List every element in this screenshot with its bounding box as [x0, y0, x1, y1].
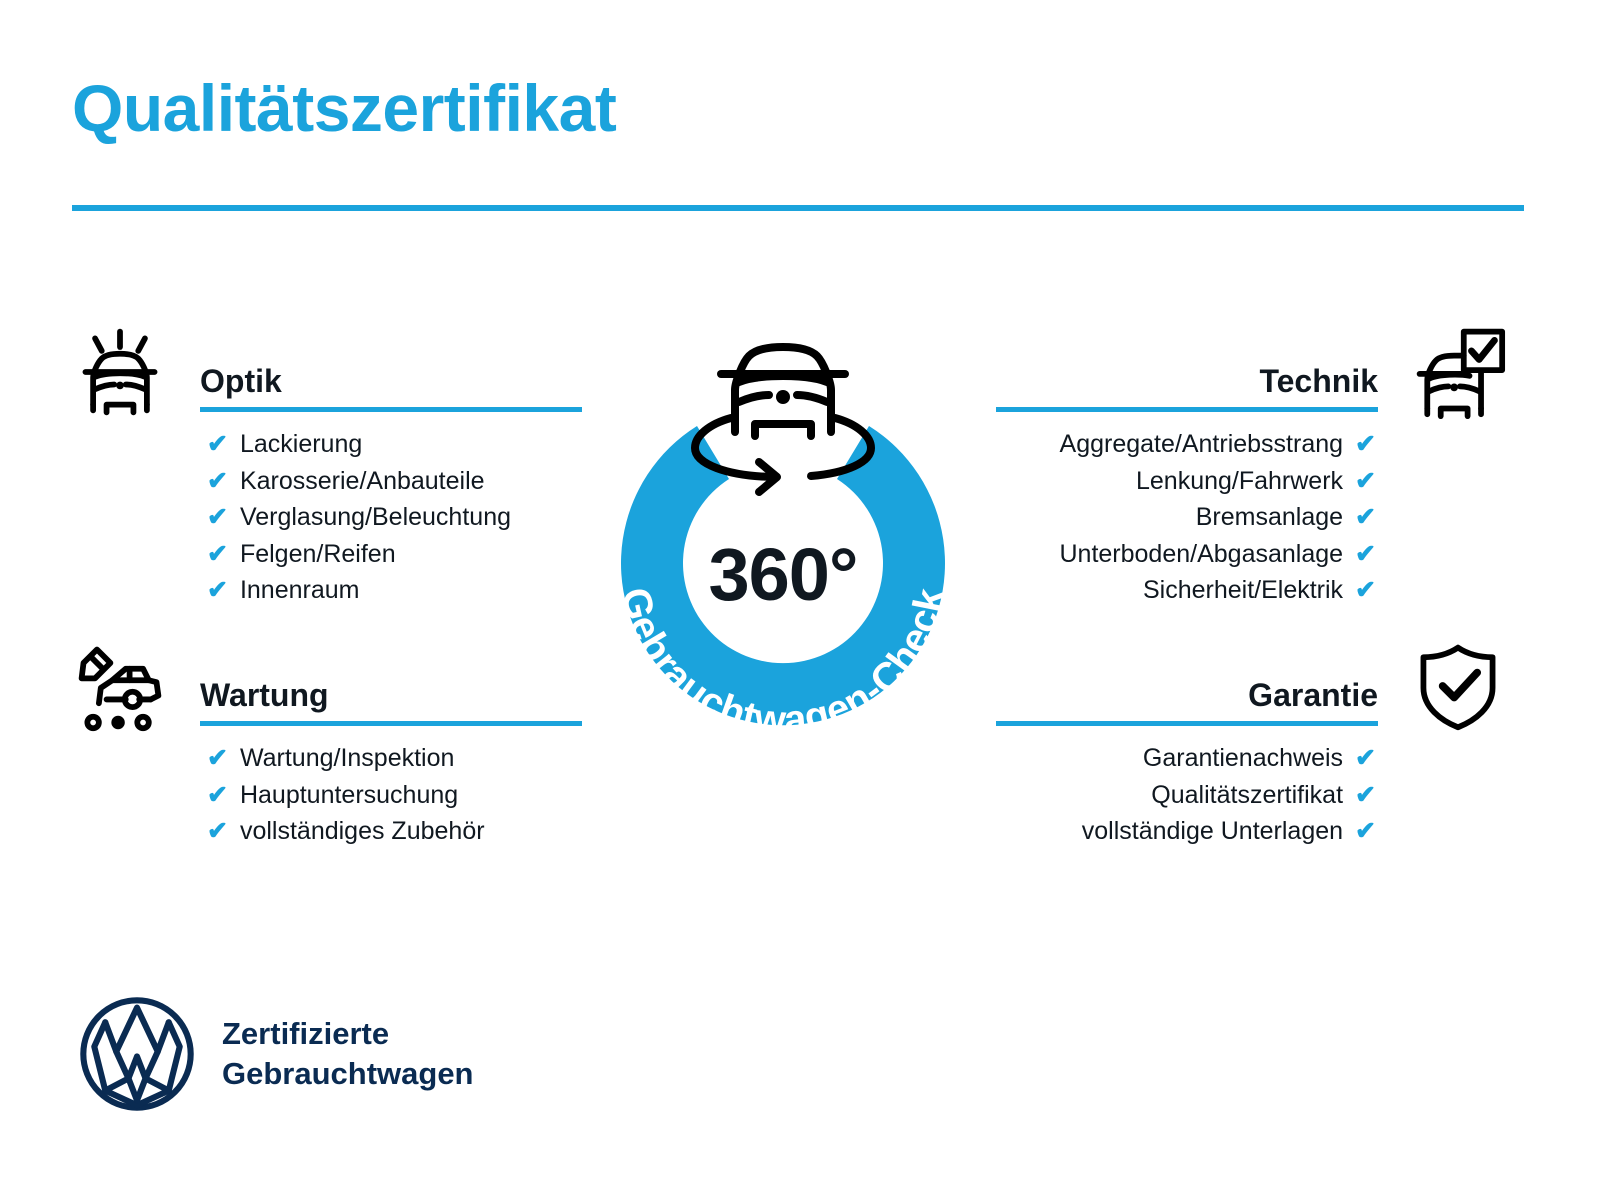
- list-item: ✔Lackierung: [72, 426, 592, 463]
- check-icon: ✔: [1355, 740, 1376, 777]
- check-icon: ✔: [1355, 572, 1376, 609]
- list-item-label: vollständige Unterlagen: [1082, 813, 1343, 850]
- check-icon: ✔: [207, 499, 228, 536]
- section-garantie-title: Garantie: [1248, 677, 1378, 714]
- check-icon: ✔: [1355, 499, 1376, 536]
- pencil-car-service-icon: [72, 638, 168, 734]
- brand-lockup: Zertifizierte Gebrauchtwagen: [76, 993, 474, 1115]
- list-item: Unterboden/Abgasanlage✔: [1008, 536, 1528, 573]
- section-technik-title: Technik: [1259, 363, 1378, 400]
- list-item: Bremsanlage✔: [1008, 499, 1528, 536]
- section-technik-list: Aggregate/Antriebsstrang✔ Lenkung/Fahrwe…: [1008, 426, 1528, 609]
- check-icon: ✔: [207, 813, 228, 850]
- header-divider: [72, 205, 1524, 211]
- page-title: Qualitätszertifikat: [72, 72, 616, 145]
- list-item-label: Qualitätszertifikat: [1151, 777, 1343, 814]
- list-item: ✔Hauptuntersuchung: [72, 777, 592, 814]
- brand-text: Zertifizierte Gebrauchtwagen: [222, 1014, 474, 1094]
- list-item-label: vollständiges Zubehör: [240, 813, 485, 850]
- brand-line-2: Gebrauchtwagen: [222, 1056, 474, 1091]
- check-icon: ✔: [1355, 536, 1376, 573]
- check-icon: ✔: [207, 536, 228, 573]
- check-icon: ✔: [207, 777, 228, 814]
- list-item: Lenkung/Fahrwerk✔: [1008, 463, 1528, 500]
- list-item: ✔Wartung/Inspektion: [72, 740, 592, 777]
- list-item-label: Aggregate/Antriebsstrang: [1060, 426, 1344, 463]
- section-wartung-header: Wartung: [72, 632, 592, 740]
- car-front-rotation-icon: [695, 347, 871, 492]
- list-item: Garantienachweis✔: [1008, 740, 1528, 777]
- car-front-checkbox-icon: [1410, 324, 1506, 420]
- list-item-label: Wartung/Inspektion: [240, 740, 454, 777]
- list-item: ✔Karosserie/Anbauteile: [72, 463, 592, 500]
- list-item: vollständige Unterlagen✔: [1008, 813, 1528, 850]
- volkswagen-logo: [76, 993, 198, 1115]
- list-item: Aggregate/Antriebsstrang✔: [1008, 426, 1528, 463]
- list-item-label: Bremsanlage: [1196, 499, 1343, 536]
- section-optik: Optik ✔Lackierung ✔Karosserie/Anbauteile…: [72, 318, 592, 609]
- car-front-shine-icon: [72, 324, 168, 420]
- list-item-label: Garantienachweis: [1143, 740, 1343, 777]
- section-garantie-underline: [996, 721, 1378, 726]
- check-icon: ✔: [1355, 463, 1376, 500]
- check-icon: ✔: [1355, 813, 1376, 850]
- section-technik-header: Technik: [1008, 318, 1528, 426]
- section-optik-underline: [200, 407, 582, 412]
- section-garantie: Garantie Garantienachweis✔ Qualitätszert…: [1008, 632, 1528, 850]
- shield-check-icon: [1410, 638, 1506, 734]
- check-icon: ✔: [207, 572, 228, 609]
- section-technik: Technik Aggregate/Antriebsstrang✔ Lenkun…: [1008, 318, 1528, 609]
- list-item: Sicherheit/Elektrik✔: [1008, 572, 1528, 609]
- list-item-label: Innenraum: [240, 572, 360, 609]
- list-item-label: Verglasung/Beleuchtung: [240, 499, 511, 536]
- section-optik-header: Optik: [72, 318, 592, 426]
- badge-center-value: 360°: [563, 532, 1003, 617]
- section-optik-list: ✔Lackierung ✔Karosserie/Anbauteile ✔Verg…: [72, 426, 592, 609]
- list-item: ✔Innenraum: [72, 572, 592, 609]
- list-item-label: Felgen/Reifen: [240, 536, 396, 573]
- list-item-label: Lenkung/Fahrwerk: [1136, 463, 1343, 500]
- list-item: ✔Felgen/Reifen: [72, 536, 592, 573]
- list-item-label: Unterboden/Abgasanlage: [1059, 536, 1343, 573]
- section-optik-title: Optik: [200, 363, 282, 400]
- check-icon: ✔: [207, 426, 228, 463]
- section-wartung-underline: [200, 721, 582, 726]
- check-icon: ✔: [207, 740, 228, 777]
- badge-360-check: Gebrauchtwagen-Check 360°: [563, 296, 1003, 766]
- list-item: ✔Verglasung/Beleuchtung: [72, 499, 592, 536]
- check-icon: ✔: [207, 463, 228, 500]
- section-garantie-list: Garantienachweis✔ Qualitätszertifikat✔ v…: [1008, 740, 1528, 850]
- brand-line-1: Zertifizierte: [222, 1016, 389, 1051]
- section-wartung-title: Wartung: [200, 677, 329, 714]
- list-item-label: Sicherheit/Elektrik: [1143, 572, 1343, 609]
- list-item-label: Hauptuntersuchung: [240, 777, 458, 814]
- check-icon: ✔: [1355, 426, 1376, 463]
- section-garantie-header: Garantie: [1008, 632, 1528, 740]
- list-item: Qualitätszertifikat✔: [1008, 777, 1528, 814]
- quality-certificate-page: Qualitätszertifikat Optik: [0, 0, 1600, 1200]
- check-icon: ✔: [1355, 777, 1376, 814]
- section-wartung: Wartung ✔Wartung/Inspektion ✔Hauptunters…: [72, 632, 592, 850]
- list-item-label: Lackierung: [240, 426, 362, 463]
- list-item: ✔vollständiges Zubehör: [72, 813, 592, 850]
- section-wartung-list: ✔Wartung/Inspektion ✔Hauptuntersuchung ✔…: [72, 740, 592, 850]
- list-item-label: Karosserie/Anbauteile: [240, 463, 485, 500]
- section-technik-underline: [996, 407, 1378, 412]
